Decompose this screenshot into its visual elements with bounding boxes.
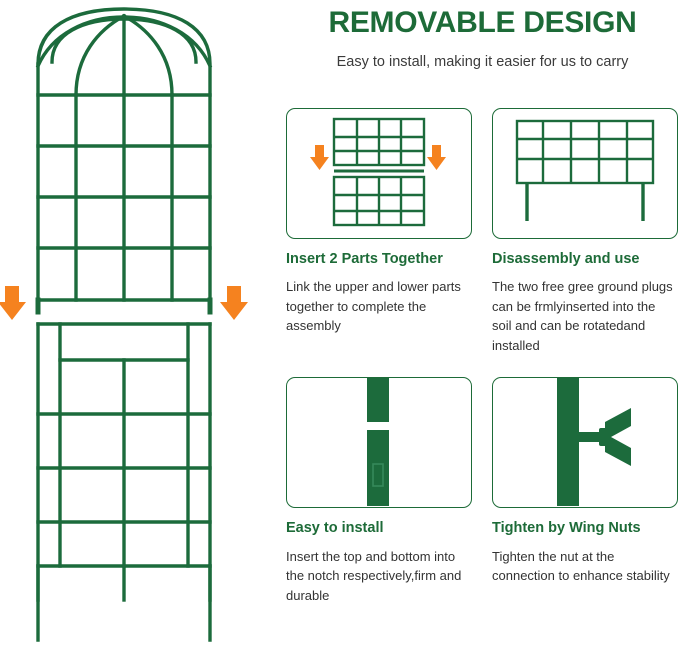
figure-single-panel-ground-plugs [492, 108, 678, 239]
card-insert-2-parts-together: Insert 2 Parts Together Link the upper a… [286, 108, 472, 355]
trellis-product-svg [0, 0, 280, 663]
card-body: Link the upper and lower parts together … [286, 277, 472, 336]
left-insert-arrow [310, 145, 329, 170]
figure-notch-joint [286, 377, 472, 508]
figure-two-panels-joining [286, 108, 472, 239]
card-title: Easy to install [286, 520, 472, 537]
card-body: Insert the top and bottom into the notch… [286, 547, 472, 606]
card-title: Tighten by Wing Nuts [492, 520, 678, 537]
two-panels-joining-icon [287, 109, 470, 237]
product-illustration-panel [0, 0, 280, 663]
card-title: Disassembly and use [492, 251, 678, 268]
upper-panel-connector-pins [38, 300, 210, 312]
card-row-1: Insert 2 Parts Together Link the upper a… [286, 108, 679, 355]
card-easy-to-install: Easy to install Insert the top and botto… [286, 377, 472, 605]
page-subtitle: Easy to install, making it easier for us… [286, 53, 679, 72]
instructions-panel: REMOVABLE DESIGN Easy to install, making… [286, 0, 679, 663]
figure-wing-nut [492, 377, 678, 508]
left-down-arrow [0, 286, 26, 320]
wing-nut-icon [493, 378, 676, 506]
right-insert-arrow [427, 145, 446, 170]
instruction-card-grid: Insert 2 Parts Together Link the upper a… [286, 108, 679, 605]
notch-joint-icon [287, 378, 470, 506]
card-body: Tighten the nut at the connection to enh… [492, 547, 678, 586]
card-disassembly-and-use: Disassembly and use The two free gree gr… [492, 108, 678, 355]
card-row-2: Easy to install Insert the top and botto… [286, 377, 679, 605]
card-tighten-by-wing-nuts: Tighten by Wing Nuts Tighten the nut at … [492, 377, 678, 605]
card-body: The two free gree ground plugs can be fr… [492, 277, 678, 355]
single-panel-ground-plugs-icon [493, 109, 676, 237]
upper-trellis-panel [38, 9, 210, 300]
lower-trellis-panel [38, 324, 210, 640]
right-down-arrow [220, 286, 248, 320]
page-title: REMOVABLE DESIGN [286, 6, 679, 39]
card-title: Insert 2 Parts Together [286, 251, 472, 268]
